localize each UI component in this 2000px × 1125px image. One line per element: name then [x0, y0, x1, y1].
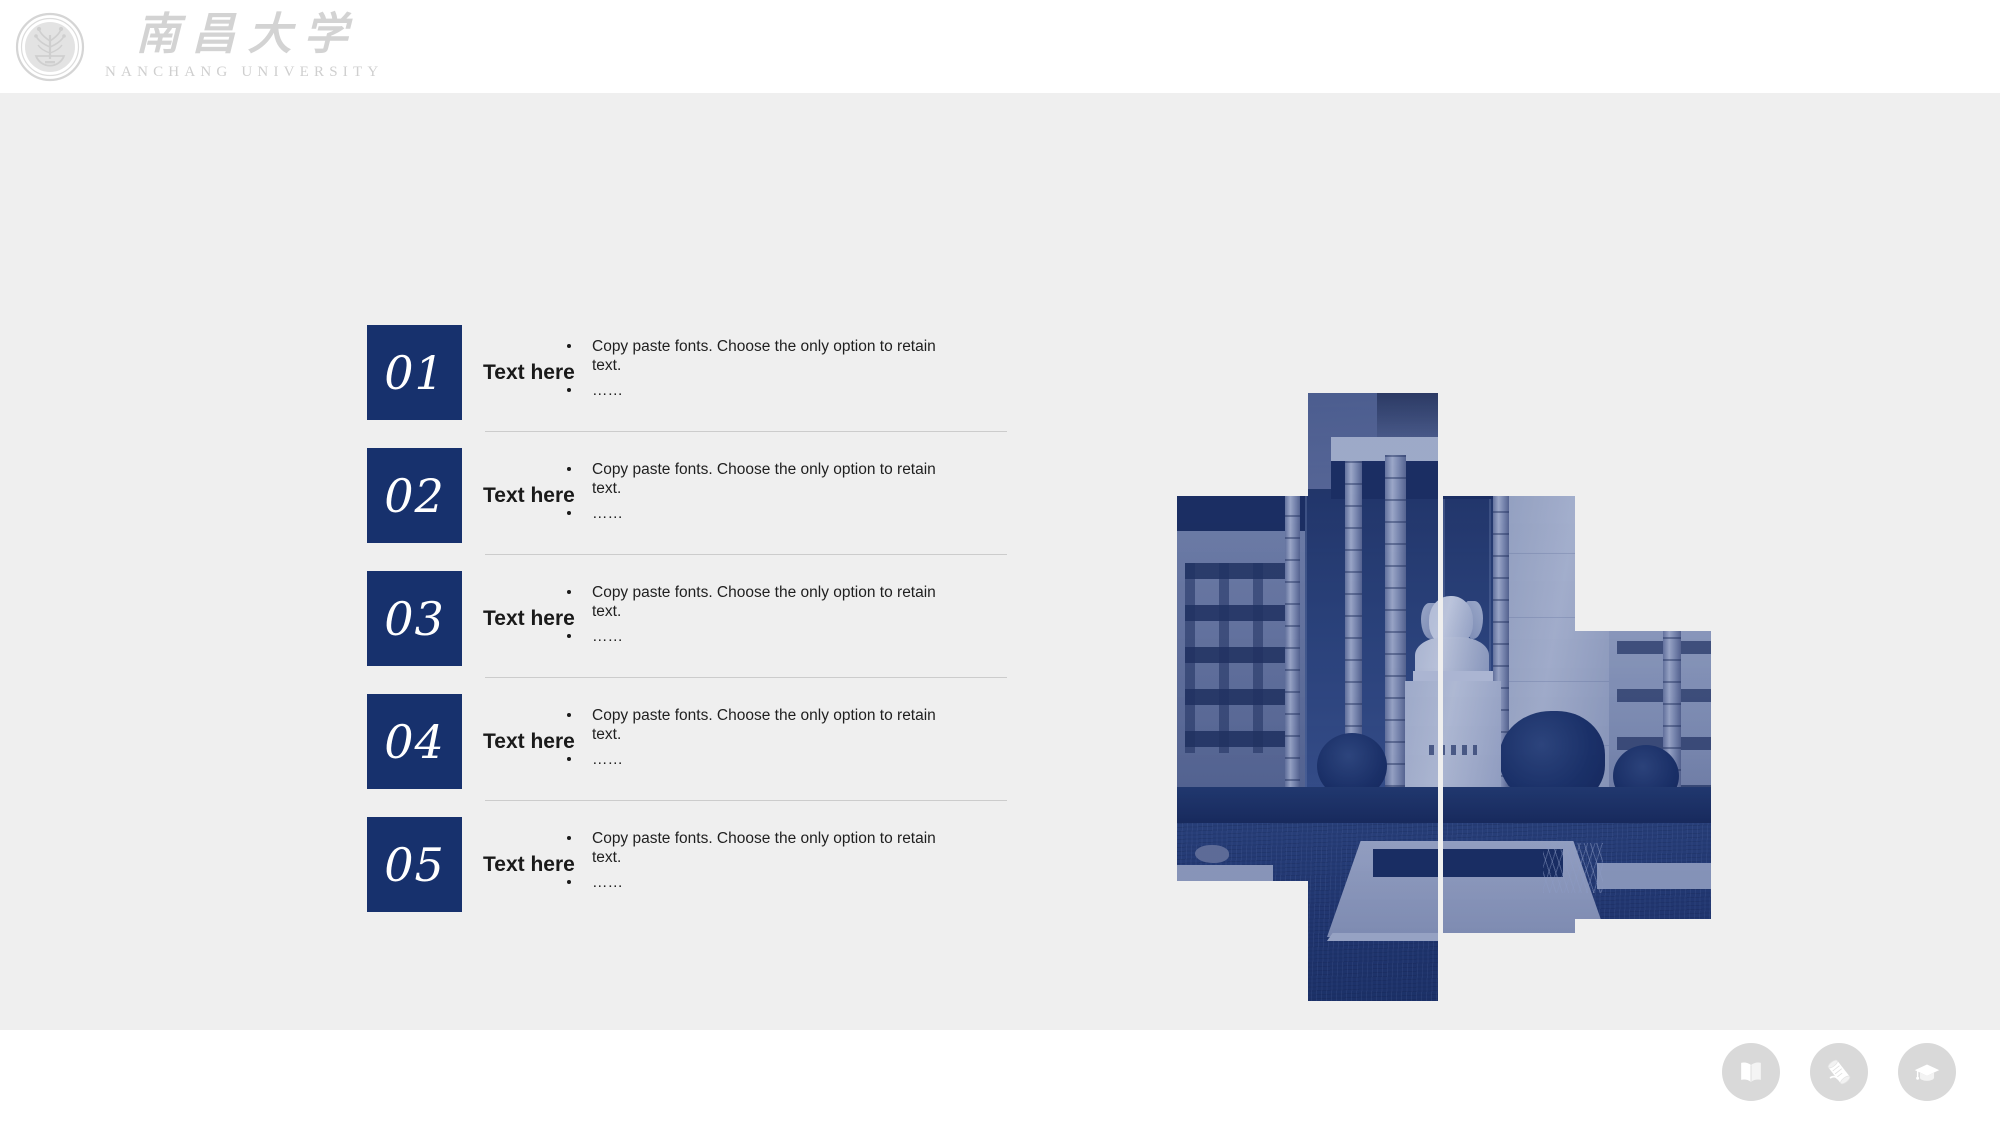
item-title: Text here: [483, 484, 575, 508]
campus-photo-collage: [1177, 393, 1711, 1001]
list-item[interactable]: 01 Text here Copy paste fonts. Choose th…: [367, 311, 1017, 434]
item-number-badge: 01: [367, 325, 462, 420]
university-logo: 南昌大学 NANCHANG UNIVERSITY: [14, 11, 383, 83]
bullet-text: ……: [564, 627, 964, 646]
wordmark-chinese: 南昌大学: [124, 13, 360, 57]
item-title: Text here: [483, 361, 575, 385]
item-bullets: Copy paste fonts. Choose the only option…: [564, 583, 964, 653]
bullet-text: Copy paste fonts. Choose the only option…: [564, 460, 964, 498]
university-wordmark: 南昌大学 NANCHANG UNIVERSITY: [100, 13, 383, 80]
collage-panel-3: [1443, 496, 1575, 933]
bullet-text: Copy paste fonts. Choose the only option…: [564, 583, 964, 621]
diploma-scroll-icon[interactable]: [1810, 1043, 1868, 1101]
bullet-text: ……: [564, 873, 964, 892]
collage-panel-4: [1573, 631, 1711, 919]
item-divider: [485, 554, 1007, 555]
campus-photo: [1308, 393, 1438, 1001]
list-item[interactable]: 03 Text here Copy paste fonts. Choose th…: [367, 557, 1017, 680]
item-number: 03: [384, 596, 445, 642]
nanchang-university-seal-icon: [14, 11, 86, 83]
item-bullets: Copy paste fonts. Choose the only option…: [564, 460, 964, 530]
footer-icon-group: [1722, 1043, 1956, 1101]
item-bullets: Copy paste fonts. Choose the only option…: [564, 829, 964, 899]
collage-panel-2: [1308, 393, 1438, 1001]
item-number: 05: [384, 842, 445, 888]
wordmark-english: NANCHANG UNIVERSITY: [100, 65, 383, 80]
collage-panel-1: [1177, 496, 1308, 881]
list-item[interactable]: 02 Text here Copy paste fonts. Choose th…: [367, 434, 1017, 557]
item-divider: [485, 677, 1007, 678]
item-title: Text here: [483, 853, 575, 877]
page-footer: [0, 1030, 2000, 1125]
item-number: 02: [384, 473, 445, 519]
item-number: 04: [384, 719, 445, 765]
item-number-badge: 03: [367, 571, 462, 666]
graduation-cap-icon[interactable]: [1898, 1043, 1956, 1101]
numbered-list: 01 Text here Copy paste fonts. Choose th…: [367, 311, 1017, 926]
slide-stage: 01 Text here Copy paste fonts. Choose th…: [0, 93, 2000, 1030]
campus-photo: [1177, 496, 1308, 881]
bullet-text: ……: [564, 381, 964, 400]
item-divider: [485, 800, 1007, 801]
bullet-text: Copy paste fonts. Choose the only option…: [564, 829, 964, 867]
item-number-badge: 04: [367, 694, 462, 789]
page-header: 南昌大学 NANCHANG UNIVERSITY: [0, 0, 2000, 93]
item-divider: [485, 431, 1007, 432]
item-number-badge: 02: [367, 448, 462, 543]
item-title: Text here: [483, 607, 575, 631]
bullet-text: ……: [564, 750, 964, 769]
list-item[interactable]: 04 Text here Copy paste fonts. Choose th…: [367, 680, 1017, 803]
list-item[interactable]: 05 Text here Copy paste fonts. Choose th…: [367, 803, 1017, 926]
item-title: Text here: [483, 730, 575, 754]
campus-photo: [1573, 631, 1711, 919]
bullet-text: ……: [564, 504, 964, 523]
campus-photo: [1443, 496, 1575, 933]
item-number: 01: [384, 350, 445, 396]
item-bullets: Copy paste fonts. Choose the only option…: [564, 706, 964, 776]
bullet-text: Copy paste fonts. Choose the only option…: [564, 706, 964, 744]
item-number-badge: 05: [367, 817, 462, 912]
item-bullets: Copy paste fonts. Choose the only option…: [564, 337, 964, 407]
bullet-text: Copy paste fonts. Choose the only option…: [564, 337, 964, 375]
open-book-icon[interactable]: [1722, 1043, 1780, 1101]
